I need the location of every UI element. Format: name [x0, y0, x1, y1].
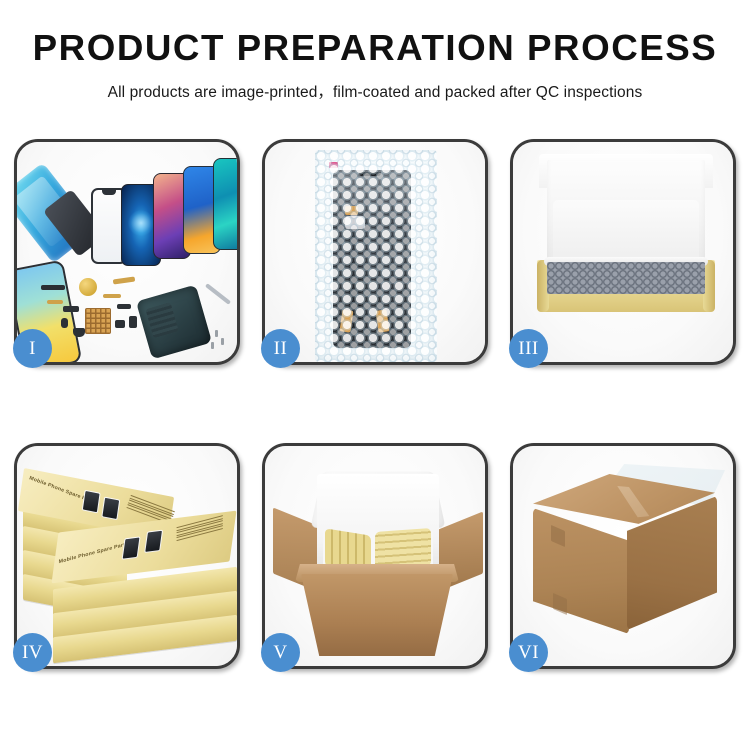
step-panel-6: VI: [510, 443, 736, 669]
step-panel-4: Mobile Phone Spare Parts Mobile Phone Sp…: [14, 443, 240, 669]
page-subtitle: All products are image-printed，film-coat…: [0, 80, 750, 102]
step-3-image: [513, 142, 733, 362]
tweezers-icon: [205, 283, 231, 305]
step-badge-1: I: [13, 329, 52, 368]
step-badge-4: IV: [13, 633, 52, 672]
small-chip-icon: [115, 320, 125, 328]
bubble-texture: [315, 150, 437, 362]
steps-grid: I II: [14, 139, 736, 669]
header: PRODUCT PREPARATION PROCESS All products…: [0, 0, 750, 102]
small-chip-icon: [63, 306, 79, 312]
step-badge-5: V: [261, 633, 300, 672]
carton-body-icon: [301, 574, 453, 656]
step-2-image: [265, 142, 485, 362]
carton-front-face: [533, 508, 629, 634]
earpiece-speaker-icon: [41, 285, 65, 290]
small-chip-icon: [129, 316, 137, 328]
step-panel-5: V: [262, 443, 488, 669]
step-badge-3: III: [509, 329, 548, 368]
product-thumbnail-icon: [144, 530, 163, 553]
yellow-boxes-group-icon: [375, 528, 431, 570]
flex-cable-icon: [113, 276, 135, 284]
product-thumbnail-icon: [122, 536, 141, 559]
screw-icon: [215, 330, 218, 337]
page-title: PRODUCT PREPARATION PROCESS: [0, 30, 750, 66]
step-badge-6: VI: [509, 633, 548, 672]
step-badge-2: II: [261, 329, 300, 368]
phone-back-housing-icon: [136, 285, 212, 360]
bubble-wrap-bag-icon: [315, 150, 437, 362]
small-chip-icon: [61, 318, 68, 328]
step-6-image: [513, 446, 733, 666]
spec-text-lines: [176, 515, 222, 541]
product-thumbnail-icon: [101, 497, 120, 521]
screw-icon: [211, 342, 214, 349]
flex-cable-icon: [47, 300, 63, 304]
teal-gradient-phone-icon: [213, 158, 237, 250]
step-panel-3: III: [510, 139, 736, 365]
grey-foam-insert-icon: [547, 262, 705, 294]
box-stack-icon: Mobile Phone Spare Parts Mobile Phone Sp…: [23, 472, 237, 652]
product-preparation-infographic: PRODUCT PREPARATION PROCESS All products…: [0, 0, 750, 750]
small-chip-icon: [117, 304, 131, 309]
step-1-image: [17, 142, 237, 362]
screw-icon: [221, 338, 224, 345]
step-4-image: Mobile Phone Spare Parts Mobile Phone Sp…: [17, 446, 237, 666]
step-panel-1: I: [14, 139, 240, 365]
small-chip-icon: [73, 328, 85, 337]
copper-shield-grid-icon: [85, 308, 111, 334]
flex-cable-icon: [103, 294, 121, 298]
step-panel-2: II: [262, 139, 488, 365]
step-5-image: [265, 446, 485, 666]
taptic-engine-icon: [79, 278, 97, 296]
product-thumbnail-icon: [82, 490, 101, 514]
box-brand-label: Mobile Phone Spare Parts: [59, 541, 128, 565]
